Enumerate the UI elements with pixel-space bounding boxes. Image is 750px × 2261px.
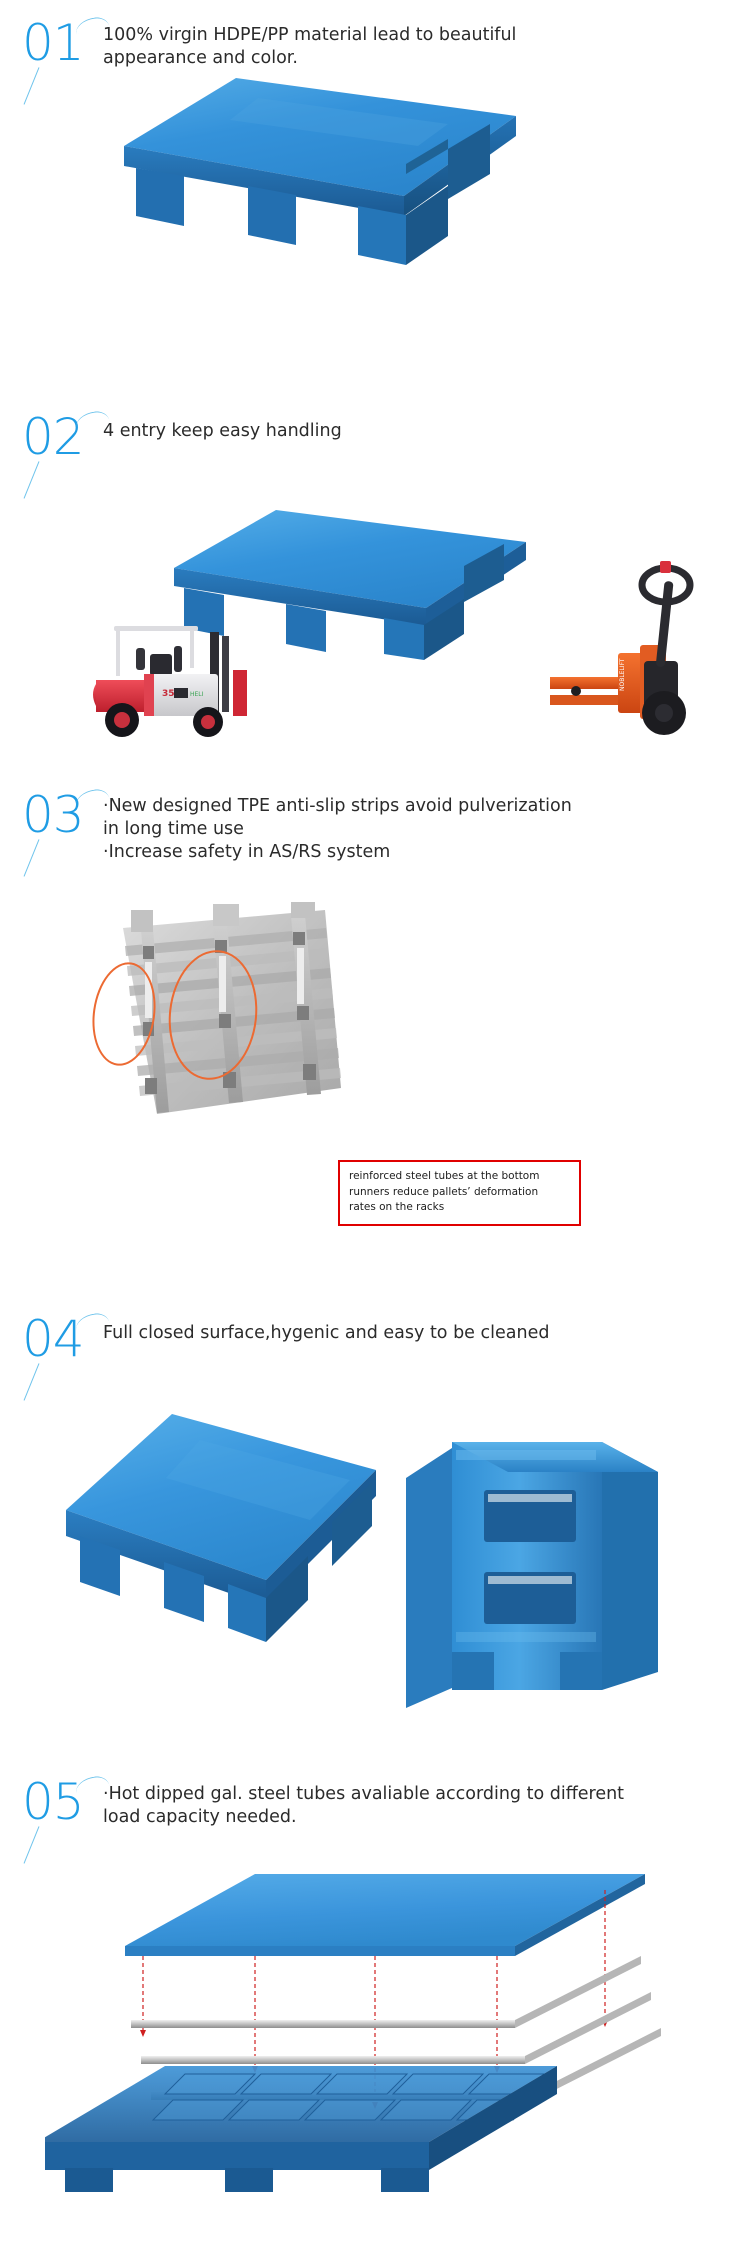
forklift-photo: 35 HELI xyxy=(78,608,258,748)
feature-section-02: 02 4 entry keep easy handling xyxy=(0,400,750,780)
callout-box: reinforced steel tubes at the bottom run… xyxy=(338,1160,581,1226)
pallet-truck-photo: NOBLELIFT xyxy=(548,545,728,750)
forklift-svg: 35 HELI xyxy=(78,608,258,748)
section-02-text: 4 entry keep easy handling xyxy=(103,420,663,443)
section-04-pallet-side-photo xyxy=(396,1420,696,1710)
section-02-number: 02 xyxy=(22,412,84,462)
section-04-text: Full closed surface,hygenic and easy to … xyxy=(103,1322,703,1345)
section-03-text: ·New designed TPE anti-slip strips avoid… xyxy=(103,795,703,864)
section-03-underside-photo xyxy=(95,902,355,1122)
svg-text:35: 35 xyxy=(162,689,175,699)
section-04-pallet-top-photo xyxy=(60,1410,380,1660)
section-05-number: 05 xyxy=(22,1777,84,1827)
product-detail-page: 01 100% virgin HDPE/PP material lead to … xyxy=(0,0,750,2261)
feature-section-01: 01 100% virgin HDPE/PP material lead to … xyxy=(0,0,750,278)
callout-line-3: rates on the racks xyxy=(349,1200,570,1216)
accent-stroke-bottom-icon xyxy=(24,461,40,499)
accent-stroke-bottom-icon xyxy=(24,67,40,105)
feature-section-03: 03 ·New designed TPE anti-slip strips av… xyxy=(0,782,750,1262)
callout-line-2: runners reduce pallets’ deformation xyxy=(349,1185,570,1201)
accent-stroke-bottom-icon xyxy=(24,839,40,877)
pallet-svg xyxy=(118,76,518,271)
svg-text:NOBLELIFT: NOBLELIFT xyxy=(619,658,626,691)
section-03-number: 03 xyxy=(22,790,84,840)
feature-section-05: 05 ·Hot dipped gal. steel tubes avaliabl… xyxy=(0,1745,750,2261)
pallet-svg xyxy=(60,1410,380,1660)
section-05-text: ·Hot dipped gal. steel tubes avaliable a… xyxy=(103,1783,723,1829)
section-01-text: 100% virgin HDPE/PP material lead to bea… xyxy=(103,24,663,70)
accent-stroke-bottom-icon xyxy=(24,1826,40,1864)
pallet-end-svg xyxy=(396,1420,696,1710)
section-04-number: 04 xyxy=(22,1314,84,1364)
pallet-truck-svg: NOBLELIFT xyxy=(548,545,728,750)
exploded-pallet-svg xyxy=(45,1870,705,2200)
accent-stroke-bottom-icon xyxy=(24,1363,40,1401)
feature-section-04: 04 Full closed surface,hygenic and easy … xyxy=(0,1300,750,1730)
section-01-pallet-photo xyxy=(118,76,518,271)
callout-line-1: reinforced steel tubes at the bottom xyxy=(349,1169,570,1185)
section-01-number: 01 xyxy=(22,18,84,68)
section-05-exploded-photo xyxy=(45,1870,705,2200)
svg-text:HELI: HELI xyxy=(190,691,204,698)
